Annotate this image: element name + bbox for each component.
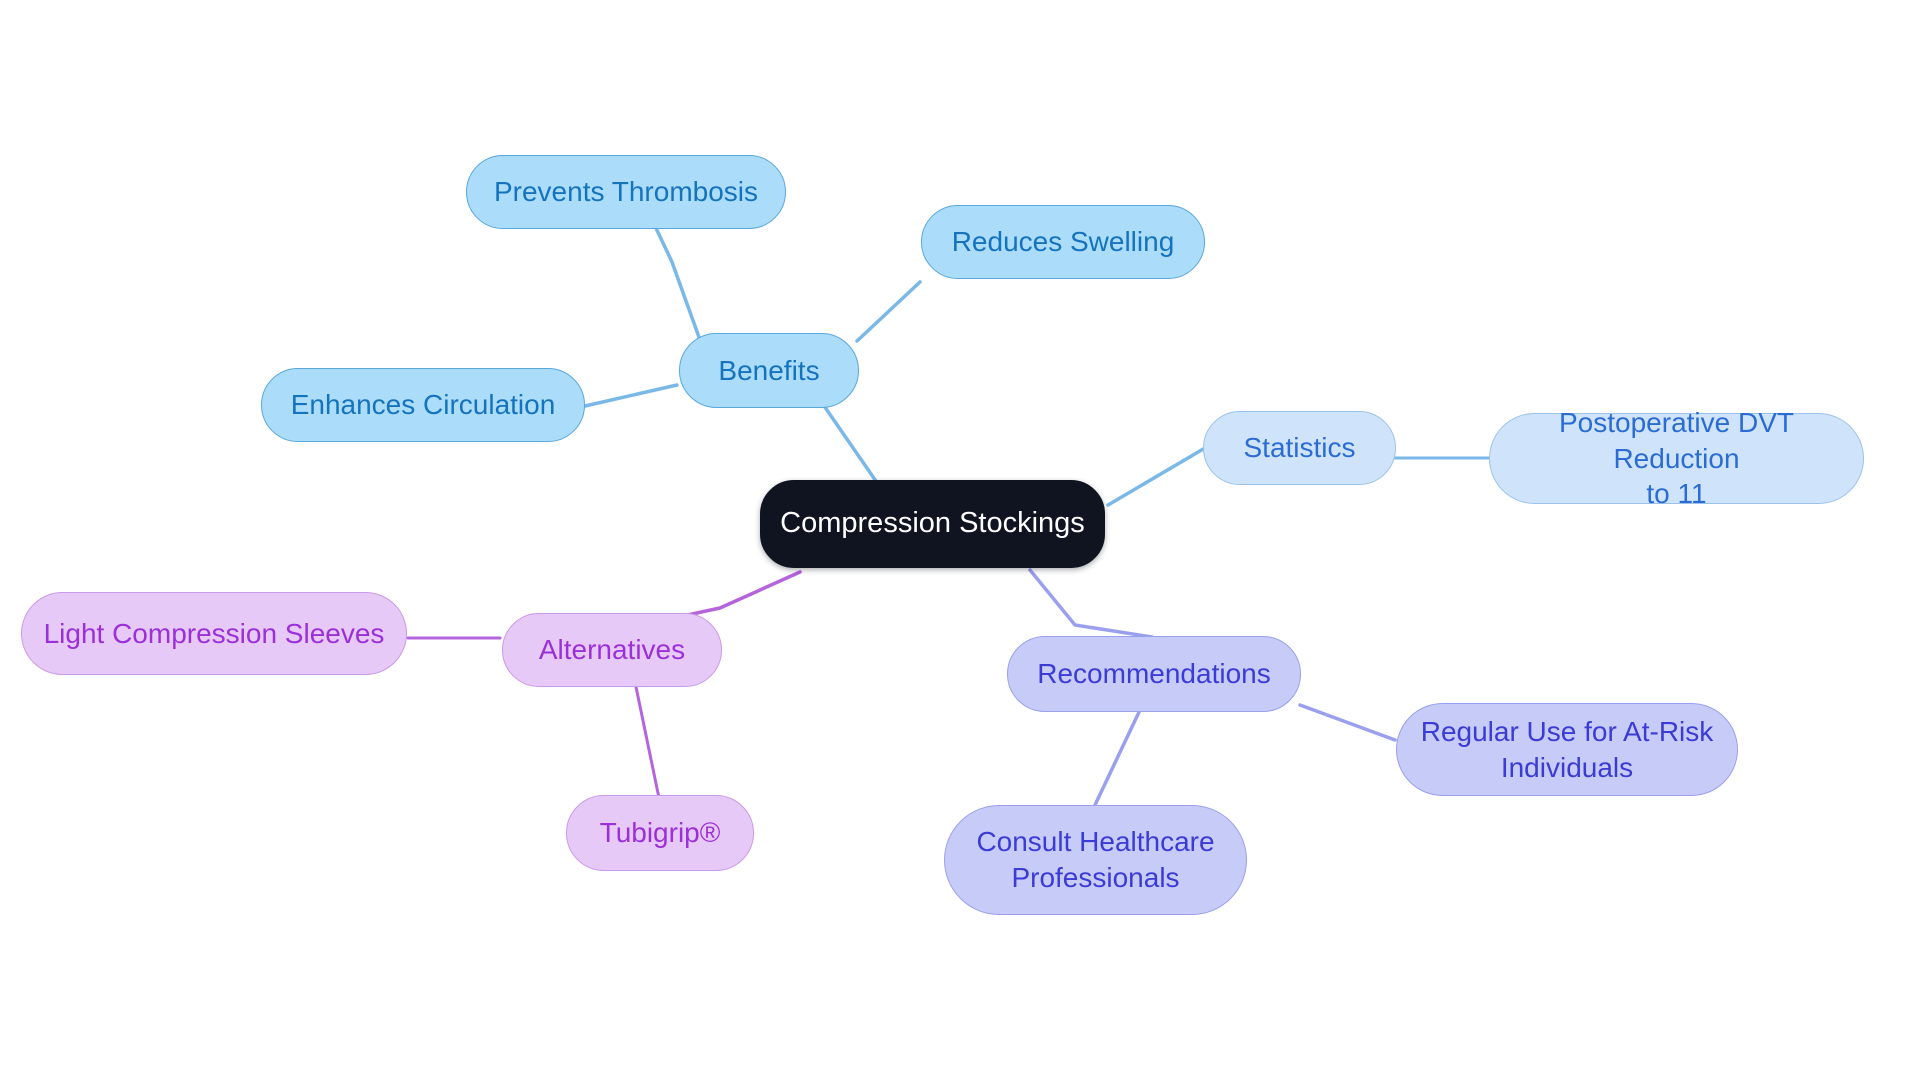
node-root-compression-stockings[interactable]: Compression Stockings bbox=[760, 480, 1105, 568]
node-enhances-circulation[interactable]: Enhances Circulation bbox=[261, 368, 585, 442]
edge-recommendations-regular-use bbox=[1300, 705, 1395, 740]
node-branch-alternatives[interactable]: Alternatives bbox=[502, 613, 722, 687]
node-postoperative-dvt-reduction[interactable]: Postoperative DVT Reduction to 11 bbox=[1489, 413, 1864, 504]
edge-root-statistics bbox=[1108, 448, 1205, 505]
node-branch-statistics[interactable]: Statistics bbox=[1203, 411, 1396, 485]
edge-alternatives-tubigrip bbox=[635, 682, 659, 798]
node-reduces-swelling[interactable]: Reduces Swelling bbox=[921, 205, 1205, 279]
mindmap-canvas: Compression Stockings Benefits Prevents … bbox=[0, 0, 1920, 1083]
node-consult-healthcare-professionals[interactable]: Consult Healthcare Professionals bbox=[944, 805, 1247, 915]
edge-recommendations-consult-healthcare bbox=[1095, 710, 1140, 805]
node-branch-benefits[interactable]: Benefits bbox=[679, 333, 859, 408]
edge-benefits-reduces-swelling bbox=[857, 282, 920, 341]
node-regular-use-at-risk-individuals[interactable]: Regular Use for At-Risk Individuals bbox=[1396, 703, 1738, 796]
node-prevents-thrombosis[interactable]: Prevents Thrombosis bbox=[466, 155, 786, 229]
node-branch-recommendations[interactable]: Recommendations bbox=[1007, 636, 1301, 712]
node-light-compression-sleeves[interactable]: Light Compression Sleeves bbox=[21, 592, 407, 675]
edge-benefits-prevents-thrombosis bbox=[655, 226, 700, 340]
edge-benefits-enhances-circulation bbox=[585, 385, 677, 406]
edge-root-recommendations bbox=[1030, 570, 1152, 637]
node-tubigrip[interactable]: Tubigrip® bbox=[566, 795, 754, 871]
